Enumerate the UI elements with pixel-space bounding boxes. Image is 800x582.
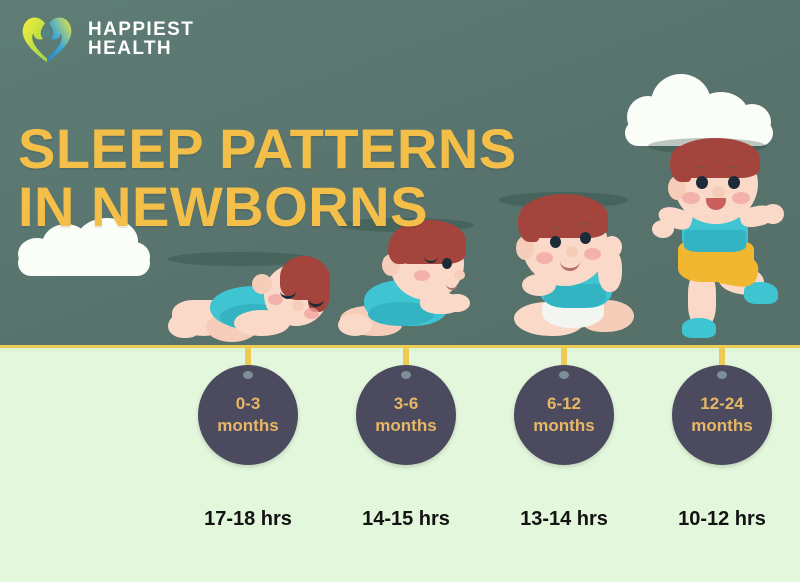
circle-cap-icon [559, 371, 569, 379]
sleep-hours-value: 17-18 hrs [173, 508, 323, 531]
age-range-line2: months [217, 415, 278, 437]
infographic-canvas: HAPPIEST HEALTH SLEEP PATTERNS IN NEWBOR… [0, 0, 800, 582]
brand-name-line1: HAPPIEST [88, 20, 194, 39]
sleep-hours-value: 14-15 hrs [331, 508, 481, 531]
heart-swirl-logo-icon [16, 8, 78, 70]
circle-cap-icon [717, 371, 727, 379]
divider-rule [0, 345, 800, 348]
circle-cap-icon [243, 371, 253, 379]
age-range-line2: months [691, 415, 752, 437]
page-title-line2: IN NEWBORNS [18, 178, 638, 236]
baby-lying-icon [168, 252, 328, 348]
age-range-line2: months [375, 415, 436, 437]
age-range-line2: months [533, 415, 594, 437]
age-range-line1: 0-3 [236, 393, 261, 415]
page-title-line1: SLEEP PATTERNS [18, 120, 638, 178]
connector-stem [245, 345, 251, 365]
age-range-line1: 3-6 [394, 393, 419, 415]
page-title: SLEEP PATTERNS IN NEWBORNS [18, 120, 638, 236]
age-range-line1: 6-12 [547, 393, 581, 415]
header-panel: HAPPIEST HEALTH SLEEP PATTERNS IN NEWBOR… [0, 0, 800, 348]
age-circle[interactable]: 12-24 months [672, 365, 772, 465]
brand-name-line2: HEALTH [88, 39, 194, 58]
age-circle[interactable]: 6-12 months [514, 365, 614, 465]
brand-logo: HAPPIEST HEALTH [16, 8, 194, 70]
data-panel: Age Avg time spent sleeping 0-3 months 3… [0, 352, 800, 582]
connector-stem [403, 345, 409, 365]
brand-name: HAPPIEST HEALTH [88, 20, 194, 58]
toddler-walking-icon [648, 138, 788, 348]
circle-cap-icon [401, 371, 411, 379]
connector-stem [719, 345, 725, 365]
sleep-hours-value: 13-14 hrs [489, 508, 639, 531]
sleep-hours-value: 10-12 hrs [647, 508, 797, 531]
age-range-line1: 12-24 [700, 393, 743, 415]
connector-stem [561, 345, 567, 365]
age-circle[interactable]: 0-3 months [198, 365, 298, 465]
age-circle[interactable]: 3-6 months [356, 365, 456, 465]
